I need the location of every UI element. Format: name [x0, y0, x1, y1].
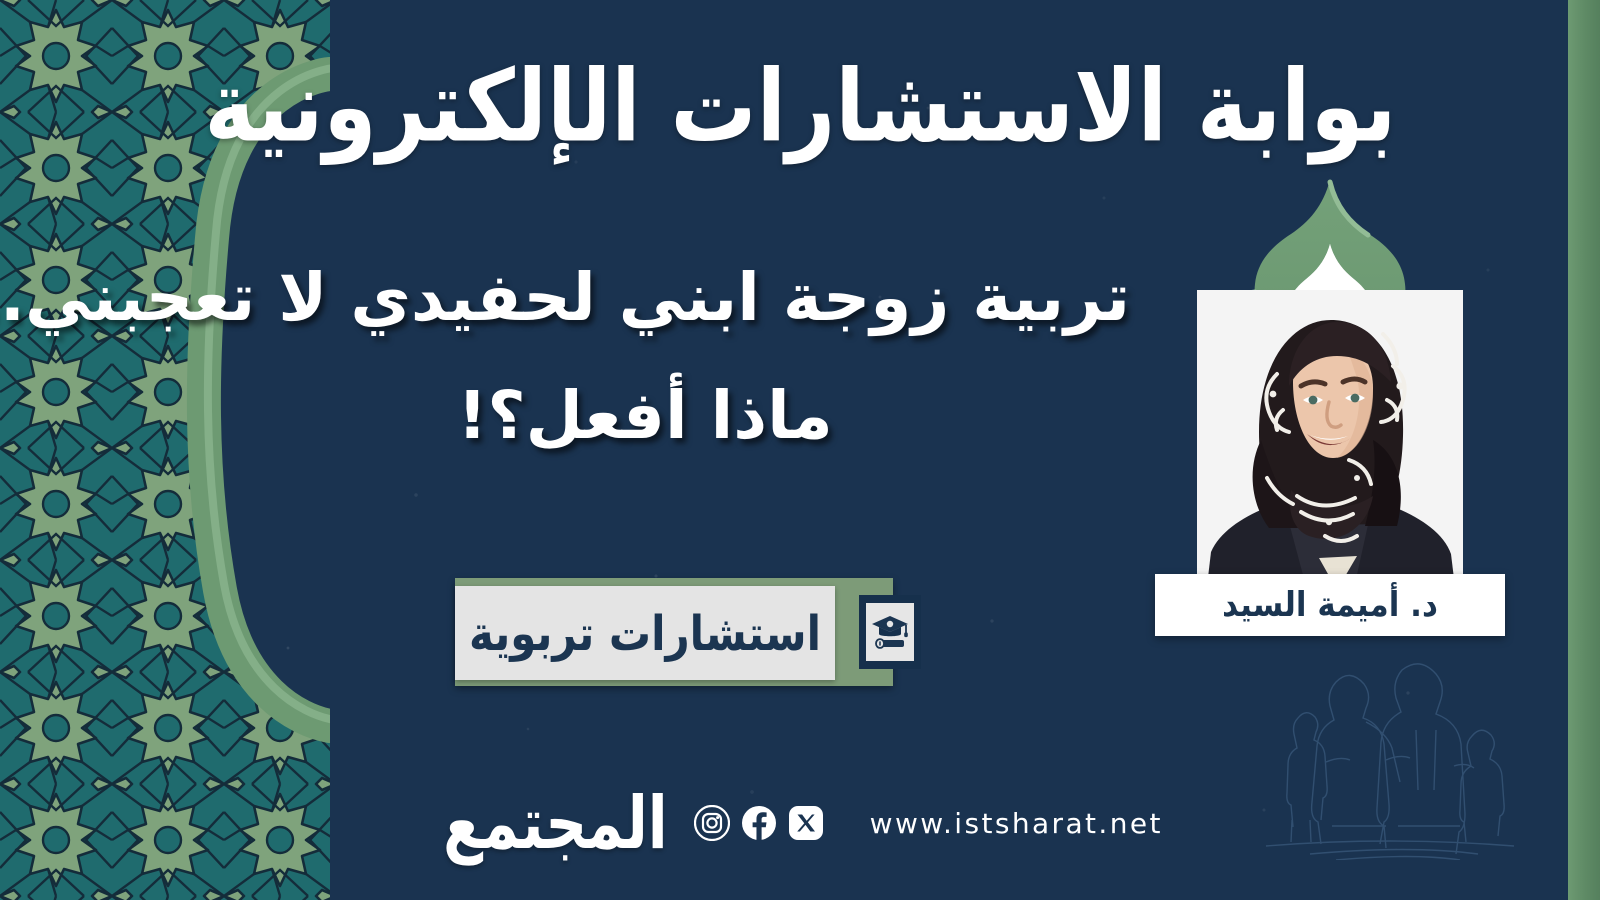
brand-logo: المجتمع: [443, 787, 668, 860]
website-url[interactable]: www.istsharat.net: [870, 807, 1163, 840]
x-twitter-icon[interactable]: [788, 805, 824, 841]
category-badge[interactable]: استشارات تربوية: [455, 578, 921, 680]
facebook-icon[interactable]: [741, 805, 777, 841]
title-line-1: تربية زوجة ابني لحفيدي لا تعجبني..: [160, 250, 1130, 346]
site-header-calligraphy: بوابة الاستشارات الإلكترونية: [0, 40, 1600, 153]
expert-name-plate: د. أميمة السيد: [1155, 574, 1505, 636]
social-links[interactable]: [694, 805, 824, 841]
portrait-photo-illustration: [1197, 290, 1463, 620]
badge-icon-box: [859, 595, 921, 669]
poster-canvas: بوابة الاستشارات الإلكترونية تربية زوجة …: [0, 0, 1600, 900]
header-calligraphy-text: بوابة الاستشارات الإلكترونية: [204, 40, 1396, 174]
title-line-2: ماذا أفعل؟!: [160, 368, 1130, 464]
footer-bar: المجتمع www.istsharat.net: [0, 794, 1600, 852]
page-title: تربية زوجة ابني لحفيدي لا تعجبني.. ماذا …: [160, 250, 1130, 463]
badge-label: استشارات تربوية: [455, 605, 835, 661]
graduation-cap-icon: [871, 614, 909, 650]
avatar: [1197, 290, 1463, 620]
instagram-icon[interactable]: [694, 805, 730, 841]
expert-name: د. أميمة السيد: [1222, 585, 1438, 625]
badge-icon-inner: [866, 603, 914, 661]
badge-text-plate: استشارات تربوية: [455, 586, 835, 680]
expert-card[interactable]: د. أميمة السيد: [1155, 172, 1505, 634]
